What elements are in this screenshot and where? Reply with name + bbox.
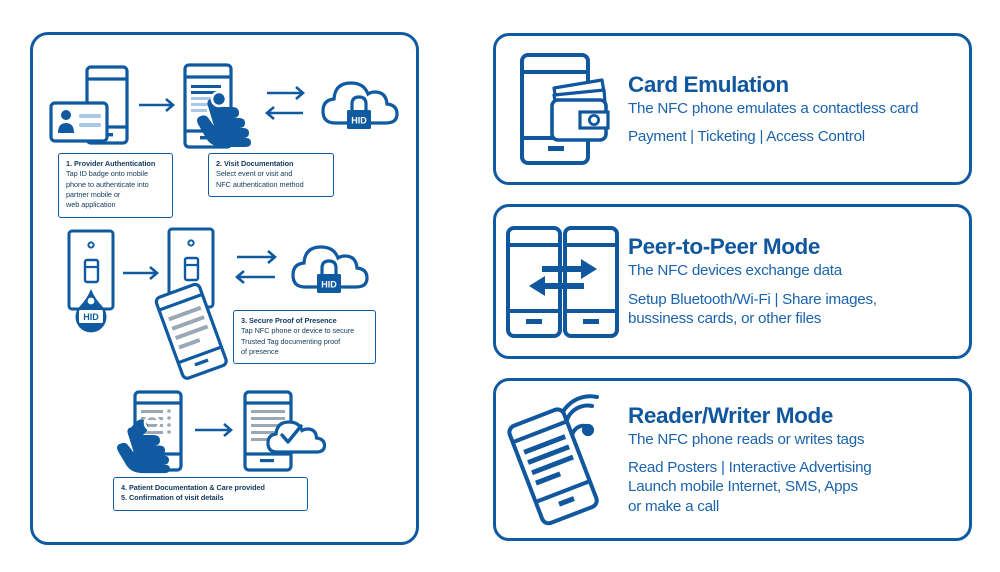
callout-step-3-line-2: Trusted Tag documenting proof — [241, 337, 369, 347]
nfc-clinical-workflow-panel: HID 1. Provider Authentication Tap ID ba… — [30, 32, 419, 545]
id-badge-icon — [51, 103, 107, 141]
mode-card-card-emulation[interactable]: Card Emulation The NFC phone emulates a … — [493, 33, 972, 185]
callout-step-1-line-4: web application — [66, 200, 166, 210]
callout-step-2-line-1: Select event or visit and — [216, 169, 327, 179]
cloud-lock-hid-icon: HID — [293, 247, 367, 293]
workflow-row-3-graphic — [95, 390, 335, 472]
cloud-lock-hid-icon: HID — [323, 83, 397, 129]
arrow-right-icon — [123, 267, 157, 279]
workflow-row-1-graphic: HID — [47, 61, 407, 166]
callout-step-1-title: 1. Provider Authentication — [66, 159, 166, 169]
svg-text:HID: HID — [321, 280, 337, 290]
mode-card-reader-writer[interactable]: Reader/Writer Mode The NFC phone reads o… — [493, 378, 972, 541]
mode-card-title: Reader/Writer Mode — [628, 403, 959, 429]
callout-step-1-line-2: phone to authenticate into — [66, 180, 166, 190]
arrow-right-icon — [195, 424, 231, 436]
two-way-arrows-icon — [267, 87, 303, 119]
callout-step-1: 1. Provider Authentication Tap ID badge … — [58, 153, 173, 218]
mode-card-text: Card Emulation The NFC phone emulates a … — [628, 72, 969, 147]
mode-card-text: Reader/Writer Mode The NFC phone reads o… — [628, 403, 969, 516]
phone-checklist-hand-icon — [117, 392, 181, 473]
arrow-right-icon — [139, 99, 173, 111]
callout-step-3: 3. Secure Proof of Presence Tap NFC phon… — [233, 310, 376, 364]
mode-card-subtitle: The NFC phone emulates a contactless car… — [628, 100, 959, 118]
callout-step-4-line: 4. Patient Documentation & Care provided — [121, 483, 301, 493]
mode-card-detail: Setup Bluetooth/Wi-Fi | Share images, bu… — [628, 290, 959, 329]
callout-step-4-5: 4. Patient Documentation & Care provided… — [113, 477, 308, 511]
mode-card-detail-line-2: bussiness cards, or other files — [628, 309, 959, 328]
callout-step-1-line-3: partner mobile or — [66, 190, 166, 200]
mode-card-detail-line-2: Launch mobile Internet, SMS, Apps — [628, 477, 959, 496]
mode-card-text: Peer-to-Peer Mode The NFC devices exchan… — [628, 234, 969, 328]
two-way-arrows-icon — [237, 251, 275, 283]
wallet-glyph — [552, 80, 608, 140]
tilted-phone-nfc-waves-icon — [496, 396, 628, 524]
callout-step-2-title: 2. Visit Documentation — [216, 159, 327, 169]
mode-card-subtitle: The NFC devices exchange data — [628, 262, 959, 280]
two-phones-exchange-icon — [496, 223, 628, 341]
mode-card-detail-line-1: Read Posters | Interactive Advertising — [628, 458, 959, 477]
mode-card-subtitle: The NFC phone reads or writes tags — [628, 431, 959, 449]
mode-card-detail: Read Posters | Interactive Advertising L… — [628, 458, 959, 516]
callout-step-3-title: 3. Secure Proof of Presence — [241, 316, 369, 326]
phone-cloud-check-icon — [245, 392, 325, 470]
mode-card-detail-line-1: Setup Bluetooth/Wi-Fi | Share images, — [628, 290, 959, 309]
callout-step-3-line-3: of presence — [241, 347, 369, 357]
svg-text:HID: HID — [83, 312, 99, 322]
mode-card-title: Card Emulation — [628, 72, 959, 98]
mode-card-detail-line-3: or make a call — [628, 497, 959, 516]
mode-card-title: Peer-to-Peer Mode — [628, 234, 959, 260]
callout-step-3-line-1: Tap NFC phone or device to secure — [241, 326, 369, 336]
infographic-root: HID 1. Provider Authentication Tap ID ba… — [0, 0, 1000, 572]
phone-wallet-icon — [496, 50, 628, 168]
callout-step-1-line-1: Tap ID badge onto mobile — [66, 169, 166, 179]
callout-step-2: 2. Visit Documentation Select event or v… — [208, 153, 334, 197]
phone-tap-hand-icon — [185, 65, 251, 147]
tilted-phone-icon — [155, 283, 228, 380]
callout-step-2-line-2: NFC authentication method — [216, 180, 327, 190]
callout-step-5-line: 5. Confirmation of visit details — [121, 493, 301, 503]
mode-card-peer-to-peer[interactable]: Peer-to-Peer Mode The NFC devices exchan… — [493, 204, 972, 359]
mode-card-detail-line-1: Payment | Ticketing | Access Control — [628, 127, 959, 146]
mode-card-detail: Payment | Ticketing | Access Control — [628, 127, 959, 146]
hid-badge-text: HID — [351, 116, 367, 126]
